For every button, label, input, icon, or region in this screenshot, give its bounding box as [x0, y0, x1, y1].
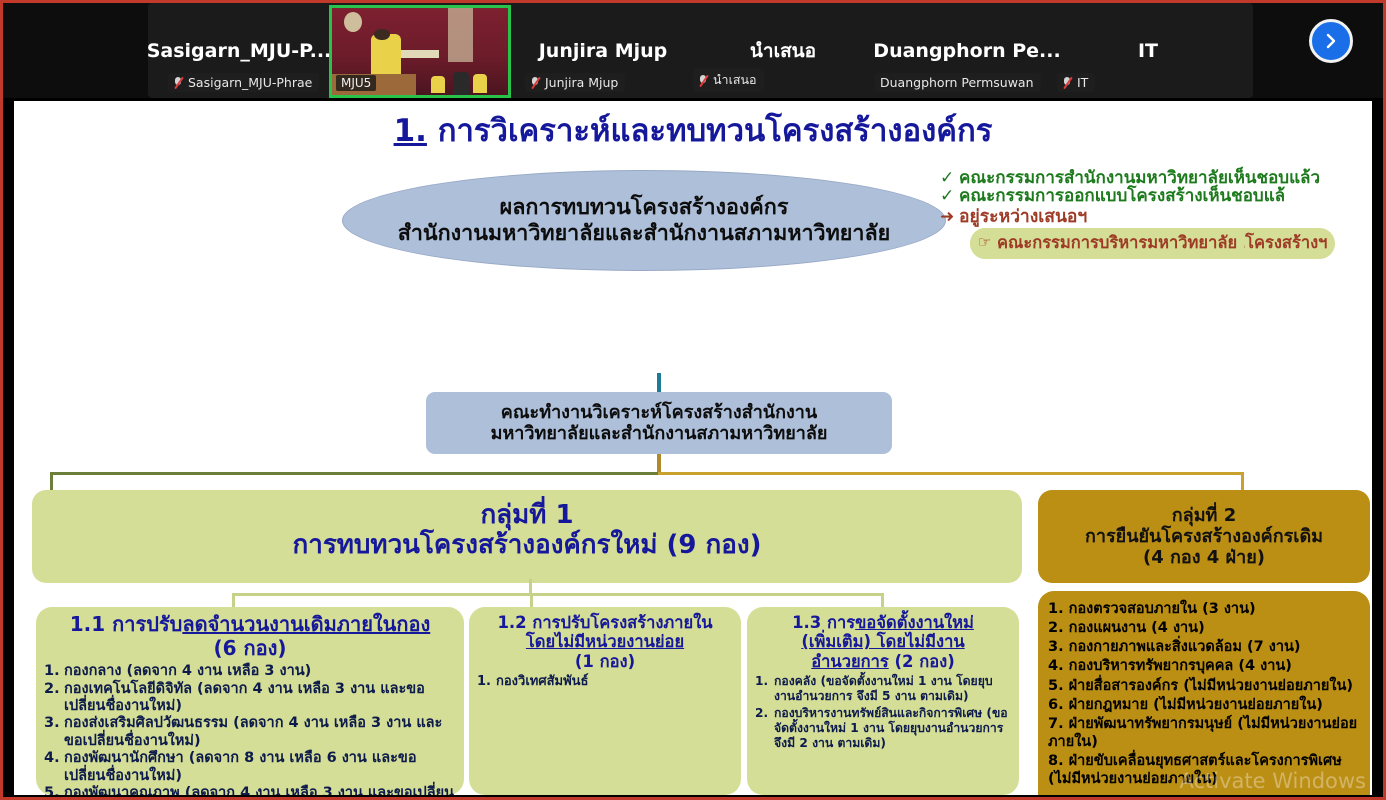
chevron-right-icon[interactable]	[1309, 19, 1353, 63]
list-item: 1.กองคลัง (ขอจัดตั้งงานใหม่ 1 งาน โดยยุบ…	[755, 674, 1011, 704]
list-item-text: กองกลาง (ลดจาก 4 งาน เหลือ 3 งาน)	[64, 663, 456, 680]
list-item-text: ฝ่ายกฎหมาย (ไม่มีหน่วยงานย่อยภายใน)	[1069, 697, 1323, 713]
video-wall-panel	[448, 8, 473, 62]
status-bullet-text: คณะกรรมการสำนักงานมหาวิทยาลัยเห็นชอบแล้ว	[959, 169, 1320, 187]
video-audience-2	[453, 72, 469, 95]
list-item: 4. กองบริหารทรัพยากรบุคคล (4 งาน)	[1048, 657, 1360, 675]
participant-name-chip: นำเสนอ	[693, 68, 764, 92]
mic-muted-icon	[698, 74, 709, 87]
status-bullet: ✓ คณะกรรมการออกแบบโครงสร้างเห็นชอบแล้	[940, 187, 1372, 205]
list-item: 5.กองพัฒนาคุณภาพ (ลดจาก 4 งาน เหลือ 3 งา…	[44, 785, 456, 795]
status-sub-bullet: ☞ คณะกรรมการบริหารมหาวิทยาลัย	[970, 228, 1245, 260]
connector-horizontal-right	[658, 472, 1244, 475]
list-item: 2. กองแผนงาน (4 งาน)	[1048, 619, 1360, 637]
connector-vertical-group2	[1241, 472, 1244, 491]
list-item-number: 2.	[755, 706, 774, 721]
pointing-hand-icon: ☞	[978, 234, 997, 250]
list-item-text: กองพัฒนานักศึกษา (ลดจาก 8 งาน เหลือ 6 งา…	[64, 750, 456, 785]
list-item-number: 3.	[44, 715, 64, 732]
sub-box-1-2-heading-line-1: 1.2 การปรับโครงสร้างภายใน	[477, 613, 733, 632]
video-audience-1	[431, 76, 445, 93]
sub-box-1-2-count: (1 กอง)	[477, 652, 733, 671]
group-2-title: กลุ่มที่ 2	[1172, 505, 1236, 526]
list-item-text: กองบริหารงานทรัพย์สินและกิจการพิเศษ (ขอจ…	[774, 706, 1011, 751]
list-item-number: 5.	[1048, 678, 1064, 694]
activate-windows-watermark: Activate Windows	[1180, 769, 1366, 793]
check-icon: ✓	[940, 169, 959, 187]
mic-muted-icon	[1062, 76, 1073, 89]
connector-ellipse-to-workgroup	[657, 373, 661, 393]
participant-name-chip: Junjira Mjup	[525, 73, 625, 92]
status-sub-bullet-text: คณะกรรมการบริหารมหาวิทยาลัย	[997, 234, 1237, 252]
list-item: 6. ฝ่ายกฎหมาย (ไม่มีหน่วยงานย่อยภายใน)	[1048, 696, 1360, 714]
list-item: 1.กองวิเทศสัมพันธ์	[477, 674, 733, 690]
list-item-number: 6.	[1048, 697, 1064, 713]
group-1-title: กลุ่มที่ 1	[480, 500, 573, 530]
mic-muted-icon	[530, 76, 541, 89]
mic-muted-icon	[173, 76, 184, 89]
list-item-text: กองเทคโนโลยีดิจิทัล (ลดจาก 4 งาน เหลือ 3…	[64, 681, 456, 716]
list-item-number: 8.	[1048, 753, 1064, 769]
participant-tile-mju5-video[interactable]: MJU5	[329, 5, 511, 98]
participant-name-chip: IT	[1057, 73, 1095, 92]
sub-box-1-3-heading-line-3-underlined: อำนวยการ	[811, 652, 889, 671]
sub-box-1-3-count: (2 กอง)	[889, 652, 955, 671]
sub-box-1-1-count: (6 กอง)	[44, 637, 456, 661]
status-bullet-list: ✓ คณะกรรมการสำนักงานมหาวิทยาลัยเห็นชอบแล…	[940, 169, 1372, 227]
list-item-text: กองบริหารทรัพยากรบุคคล (4 งาน)	[1069, 658, 1292, 674]
list-item-number: 4.	[1048, 658, 1064, 674]
status-bullet-text: คณะกรรมการออกแบบโครงสร้างเห็นชอบแล้	[959, 187, 1285, 205]
list-item-number: 5.	[44, 785, 64, 795]
working-group-box: คณะทำงานวิเคราะห์โครงสร้างสำนักงาน มหาวิ…	[426, 392, 892, 454]
list-item: 7. ฝ่ายพัฒนาทรัพยากรมนุษย์ (ไม่มีหน่วยงา…	[1048, 715, 1360, 751]
list-item-number: 3.	[1048, 639, 1064, 655]
list-item: 3.กองส่งเสริมศิลปวัฒนธรรม (ลดจาก 4 งาน เ…	[44, 715, 456, 750]
status-bullet: ➜ อยู่ระหว่างเสนอฯ	[940, 208, 1372, 227]
video-filmstrip: Sasigarn_MJU-P... Sasigarn_MJU-Phrae MJU…	[3, 3, 1383, 98]
sub-box-1-2-heading-line-2: โดยไม่มีหน่วยงานย่อย	[477, 632, 733, 651]
list-item-text: กองแผนงาน (4 งาน)	[1069, 620, 1205, 636]
connector-vertical-group1	[50, 472, 53, 491]
list-item-text: กองคลัง (ขอจัดตั้งงานใหม่ 1 งาน โดยยุบงา…	[774, 674, 1011, 704]
connector-workgroup-down	[657, 454, 661, 474]
group-1-subtitle: การทบทวนโครงสร้างองค์กรใหม่ (9 กอง)	[292, 530, 761, 560]
list-item-text: ฝ่ายสื่อสารองค์กร (ไม่มีหน่วยงานย่อยภายใ…	[1069, 678, 1353, 694]
participant-display-name: Sasigarn_MJU-P...	[147, 40, 332, 62]
list-item-number: 1.	[44, 663, 64, 680]
result-ellipse: ผลการทบทวนโครงสร้างองค์กร สำนักงานมหาวิท…	[342, 170, 946, 271]
connector-group1-bus	[232, 593, 884, 596]
sub-box-1-3: 1.3 การขอจัดตั้งงานใหม่ (เพิ่มเติม) โดยไ…	[747, 607, 1019, 795]
participant-display-name: นำเสนอ	[750, 36, 816, 66]
list-item: 2.กองเทคโนโลยีดิจิทัล (ลดจาก 4 งาน เหลือ…	[44, 681, 456, 716]
sub-box-1-2-heading: 1.2 การปรับโครงสร้างภายใน โดยไม่มีหน่วยง…	[477, 613, 733, 671]
list-item-number: 4.	[44, 750, 64, 767]
sub-box-1-3-heading-underlined: ขอจัดตั้งงานใหม่	[855, 613, 974, 632]
list-item-number: 1.	[755, 674, 774, 689]
list-item: 5. ฝ่ายสื่อสารองค์กร (ไม่มีหน่วยงานย่อยภ…	[1048, 677, 1360, 695]
participant-name-chip: Sasigarn_MJU-Phrae	[168, 73, 319, 92]
list-item-number: 1.	[477, 674, 496, 690]
sub-box-1-3-heading: 1.3 การขอจัดตั้งงานใหม่ (เพิ่มเติม) โดยไ…	[755, 613, 1011, 671]
list-item-text: กองวิเทศสัมพันธ์	[496, 674, 733, 690]
participant-chip-name: Junjira Mjup	[545, 75, 618, 90]
group-2-count: (4 กอง 4 ฝ่าย)	[1143, 547, 1265, 568]
participant-chip-name: Duangphorn Permsuwan	[880, 75, 1034, 90]
group-1-header: กลุ่มที่ 1 การทบทวนโครงสร้างองค์กรใหม่ (…	[32, 490, 1022, 583]
sub-box-1-3-heading-line-2: (เพิ่มเติม) โดยไม่มีงาน	[755, 632, 1011, 651]
participant-name-chip: Duangphorn Permsuwan	[875, 73, 1041, 92]
sub-box-1-1-heading-prefix: 1.1 การปรับ	[70, 612, 183, 636]
group-2-list: 1. กองตรวจสอบภายใน (3 งาน) 2. กองแผนงาน …	[1038, 591, 1370, 795]
participant-display-name: Duangphorn Pe...	[873, 40, 1060, 62]
working-group-line-1: คณะทำงานวิเคราะห์โครงสร้างสำนักงาน	[501, 402, 817, 423]
sub-box-1-3-heading-prefix: 1.3 การ	[792, 613, 855, 632]
ellipse-line-1: ผลการทบทวนโครงสร้างองค์กร	[500, 195, 789, 220]
page-title-text: การวิเคราะห์และทบทวนโครงสร้างองค์กร	[427, 113, 992, 149]
list-item-text: กองตรวจสอบภายใน (3 งาน)	[1069, 601, 1256, 617]
list-item-number: 1.	[1048, 601, 1064, 617]
list-item: 3. กองกายภาพและสิ่งแวดล้อม (7 งาน)	[1048, 638, 1360, 656]
sub-box-1-1: 1.1 การปรับลดจำนวนงานเดิมภายในกอง (6 กอง…	[36, 607, 464, 795]
participant-chip-name: MJU5	[336, 75, 376, 91]
page-title: 1. การวิเคราะห์และทบทวนโครงสร้างองค์กร	[14, 105, 1372, 155]
sub-box-1-3-heading-line-3: อำนวยการ (2 กอง)	[755, 652, 1011, 671]
participant-chip-name: IT	[1077, 75, 1088, 90]
sub-box-1-2-list: 1.กองวิเทศสัมพันธ์	[477, 674, 733, 690]
list-item-number: 2.	[1048, 620, 1064, 636]
list-item-text: ฝ่ายพัฒนาทรัพยากรมนุษย์ (ไม่มีหน่วยงานย่…	[1048, 716, 1357, 750]
sub-box-1-3-heading-line-1: 1.3 การขอจัดตั้งงานใหม่	[755, 613, 1011, 632]
working-group-line-2: มหาวิทยาลัยและสำนักงานสภามหาวิทยาลัย	[491, 423, 828, 444]
list-item: 4.กองพัฒนานักศึกษา (ลดจาก 8 งาน เหลือ 6 …	[44, 750, 456, 785]
shared-slide: 1. การวิเคราะห์และทบทวนโครงสร้างองค์กร ผ…	[14, 101, 1372, 795]
check-icon: ✓	[940, 187, 959, 205]
screen: Sasigarn_MJU-P... Sasigarn_MJU-Phrae MJU…	[0, 0, 1386, 800]
ellipse-line-2: สำนักงานมหาวิทยาลัยและสำนักงานสภามหาวิทย…	[398, 221, 891, 246]
sub-box-1-1-heading: 1.1 การปรับลดจำนวนงานเดิมภายในกอง (6 กอง…	[44, 613, 456, 660]
connector-horizontal-left	[50, 472, 658, 475]
group-2-subtitle: การยืนยันโครงสร้างองค์กรเดิม	[1085, 526, 1323, 547]
page-title-number: 1.	[394, 113, 427, 149]
list-item-text: กองกายภาพและสิ่งแวดล้อม (7 งาน)	[1069, 639, 1301, 655]
list-item: 1.กองกลาง (ลดจาก 4 งาน เหลือ 3 งาน)	[44, 663, 456, 680]
group-2-header: กลุ่มที่ 2 การยืนยันโครงสร้างองค์กรเดิม …	[1038, 490, 1370, 583]
list-item-number: 2.	[44, 681, 64, 698]
list-item-text: กองพัฒนาคุณภาพ (ลดจาก 4 งาน เหลือ 3 งาน …	[64, 785, 456, 795]
sub-box-1-2: 1.2 การปรับโครงสร้างภายใน โดยไม่มีหน่วยง…	[469, 607, 741, 795]
participant-display-name: Junjira Mjup	[539, 40, 668, 62]
video-audience-3	[473, 74, 487, 93]
sub-box-1-1-list: 1.กองกลาง (ลดจาก 4 งาน เหลือ 3 งาน) 2.กอ…	[44, 663, 456, 795]
sub-box-1-1-heading-underlined: ลดจำนวนงานเดิมภายในกอง	[182, 612, 430, 636]
arrow-right-icon: ➜	[940, 208, 959, 226]
status-bullet-text: อยู่ระหว่างเสนอฯ	[959, 208, 1087, 227]
participant-chip-name: Sasigarn_MJU-Phrae	[188, 75, 312, 90]
participant-display-name: IT	[1138, 40, 1158, 62]
sub-box-1-3-list: 1.กองคลัง (ขอจัดตั้งงานใหม่ 1 งาน โดยยุบ…	[755, 674, 1011, 750]
list-item: 1. กองตรวจสอบภายใน (3 งาน)	[1048, 600, 1360, 618]
participant-chip-name: นำเสนอ	[713, 70, 757, 90]
list-item: 2.กองบริหารงานทรัพย์สินและกิจการพิเศษ (ข…	[755, 706, 1011, 751]
list-item-number: 7.	[1048, 716, 1064, 732]
list-item-text: กองส่งเสริมศิลปวัฒนธรรม (ลดจาก 4 งาน เหล…	[64, 715, 456, 750]
participant-tile-it[interactable]: IT	[1093, 3, 1203, 98]
video-emblem	[344, 12, 362, 32]
status-bullet: ✓ คณะกรรมการสำนักงานมหาวิทยาลัยเห็นชอบแล…	[940, 169, 1372, 187]
